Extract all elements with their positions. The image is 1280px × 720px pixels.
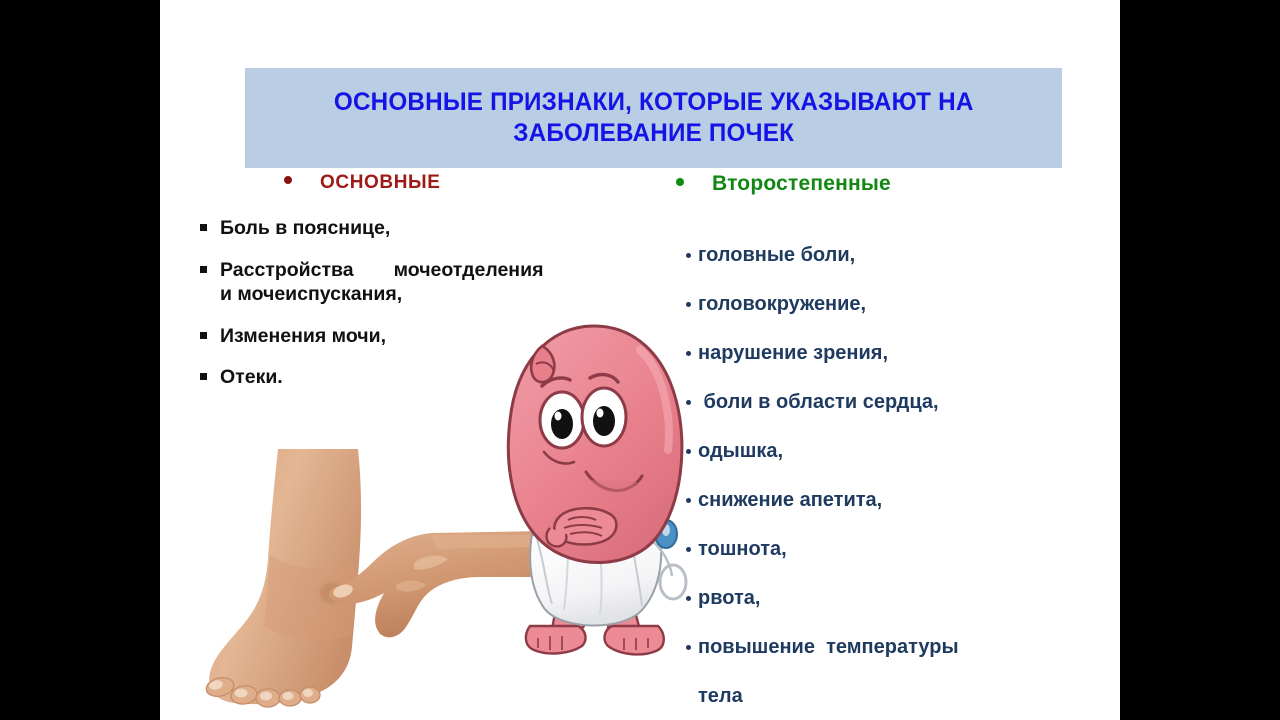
list-item: нарушение зрения, <box>668 341 1088 365</box>
letterbox-bar-left <box>0 0 160 720</box>
list-item-label: Боль в пояснице, <box>220 217 390 239</box>
list-item-label: Отеки. <box>220 366 283 388</box>
round-bullet-icon <box>686 253 691 258</box>
square-bullet-icon <box>200 224 207 231</box>
bullet-dot-icon <box>676 178 684 186</box>
list-item-label: снижение апетита, <box>698 489 882 511</box>
list-item-label: боли в области сердца, <box>698 391 939 413</box>
list-item: боли в области сердца, <box>668 390 1088 414</box>
list-item: Расстройствамочеотделения и мочеиспускан… <box>190 258 640 307</box>
secondary-signs-column: Второстепенные головные боли, головокруж… <box>668 172 1088 720</box>
title-banner: ОСНОВНЫЕ ПРИЗНАКИ, КОТОРЫЕ УКАЗЫВАЮТ НА … <box>245 68 1062 168</box>
list-item-label: нарушение зрения, <box>698 342 888 364</box>
slide-stage: ОСНОВНЫЕ ПРИЗНАКИ, КОТОРЫЕ УКАЗЫВАЮТ НА … <box>0 0 1280 720</box>
list-item: тошнота, <box>668 537 1088 561</box>
page-title: ОСНОВНЫЕ ПРИЗНАКИ, КОТОРЫЕ УКАЗЫВАЮТ НА … <box>334 87 974 150</box>
square-bullet-icon <box>200 332 207 339</box>
list-item-label: Изменения мочи, <box>220 325 386 347</box>
list-item: повышение температуры <box>668 635 1088 659</box>
letterbox-bar-right <box>1120 0 1280 720</box>
primary-signs-heading: ОСНОВНЫЕ <box>190 172 640 194</box>
square-bullet-icon <box>200 266 207 273</box>
secondary-signs-heading: Второстепенные <box>668 172 1088 196</box>
pitting-edema-foot-illustration <box>200 435 540 720</box>
list-item: головокружение, <box>668 292 1088 316</box>
list-item: одышка, <box>668 439 1088 463</box>
bullet-dot-icon <box>284 176 292 184</box>
slide-content: ОСНОВНЫЕ ПРИЗНАКИ, КОТОРЫЕ УКАЗЫВАЮТ НА … <box>160 0 1120 720</box>
list-item: тела <box>668 684 1088 708</box>
list-item-label-tail: мочеотделения <box>394 259 544 281</box>
list-item: снижение апетита, <box>668 488 1088 512</box>
list-item: Боль в пояснице, <box>190 216 640 241</box>
secondary-signs-list: головные боли, головокружение, нарушение… <box>668 243 1088 708</box>
secondary-signs-heading-label: Второстепенные <box>712 172 891 196</box>
list-item-continuation: и мочеиспускания, <box>220 283 402 305</box>
list-item-label: Расстройства <box>220 259 354 281</box>
list-item-label: головокружение, <box>698 293 866 315</box>
list-item: головные боли, <box>668 243 1088 267</box>
list-item-label: головные боли, <box>698 244 855 266</box>
list-item: рвота, <box>668 586 1088 610</box>
page-title-line-1: ОСНОВНЫЕ ПРИЗНАКИ, КОТОРЫЕ УКАЗЫВАЮТ НА <box>334 87 974 119</box>
round-bullet-icon <box>686 302 691 307</box>
square-bullet-icon <box>200 373 207 380</box>
page-title-line-2: ЗАБОЛЕВАНИЕ ПОЧЕК <box>334 118 974 150</box>
kidney-mascot-illustration <box>490 320 720 720</box>
primary-signs-heading-label: ОСНОВНЫЕ <box>320 172 441 194</box>
list-item-label: повышение температуры <box>698 636 959 658</box>
